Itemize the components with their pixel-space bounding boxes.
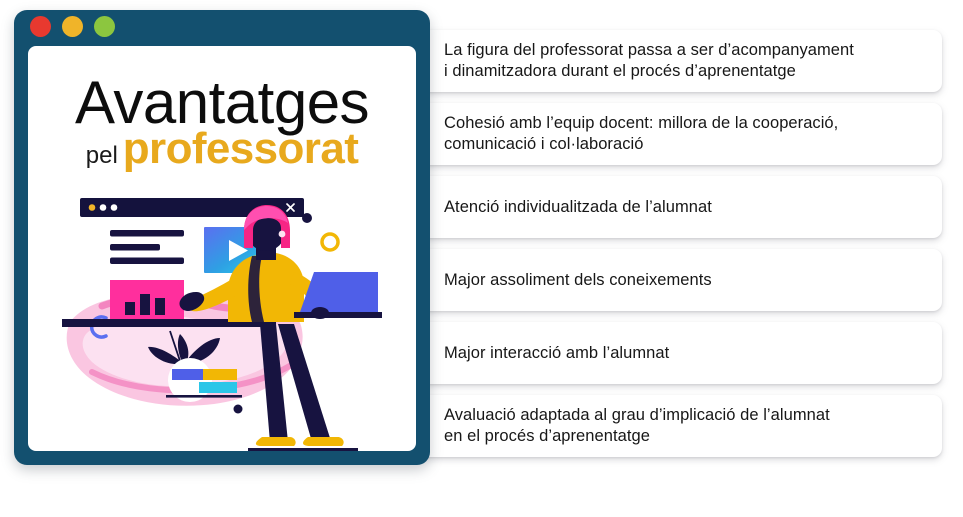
ground-line: [248, 448, 358, 451]
title-accent-text: professorat: [123, 124, 358, 173]
benefit-card[interactable]: La figura del professorat passa a ser d’…: [418, 30, 942, 92]
benefit-card[interactable]: Major interacció amb l’alumnat: [418, 322, 942, 384]
benefit-card[interactable]: Major assoliment dels coneixements: [418, 249, 942, 311]
benefit-card[interactable]: Atenció individualitzada de l’alumnat: [418, 176, 942, 238]
benefit-card-text: Cohesió amb l’equip docent: millora de l…: [444, 113, 838, 155]
benefit-card[interactable]: Avaluació adaptada al grau d’implicació …: [418, 395, 942, 457]
bar-chart-graphic: [110, 280, 184, 324]
navy-dot-decoration: [302, 213, 312, 223]
shoe-graphic: [303, 437, 344, 446]
benefit-card-text: Avaluació adaptada al grau d’implicació …: [444, 405, 830, 447]
navy-dot-decoration: [234, 405, 243, 414]
window-titlebar: [14, 10, 430, 42]
title-subline: pelprofessorat: [28, 127, 416, 171]
slide-canvas: La figura del professorat passa a ser d’…: [0, 0, 963, 517]
benefit-card[interactable]: Cohesió amb l’equip docent: millora de l…: [418, 103, 942, 165]
browser-window-mockup: Avantatges pelprofessorat: [14, 10, 430, 465]
title-small-text: pel: [86, 142, 118, 169]
text-lines-graphic: [110, 230, 184, 264]
benefit-card-text: Atenció individualitzada de l’alumnat: [444, 197, 712, 218]
inner-dot-white-icon: [100, 204, 107, 211]
teacher-illustration: [62, 194, 382, 451]
page-title: Avantatges pelprofessorat: [28, 74, 416, 171]
minimize-traffic-light-icon[interactable]: [62, 16, 83, 37]
benefits-card-list: La figura del professorat passa a ser d’…: [418, 30, 942, 468]
close-traffic-light-icon[interactable]: [30, 16, 51, 37]
benefit-card-text: La figura del professorat passa a ser d’…: [444, 40, 854, 82]
inner-dot-yellow-icon: [89, 204, 96, 211]
inner-dot-white-icon: [111, 204, 118, 211]
benefit-card-text: Major interacció amb l’alumnat: [444, 343, 669, 364]
benefit-card-text: Major assoliment dels coneixements: [444, 270, 712, 291]
slide-content-panel: Avantatges pelprofessorat: [28, 46, 416, 451]
maximize-traffic-light-icon[interactable]: [94, 16, 115, 37]
yellow-ring-decoration: [322, 234, 338, 250]
shoe-graphic: [256, 437, 296, 446]
title-main-text: Avantatges: [28, 74, 416, 131]
